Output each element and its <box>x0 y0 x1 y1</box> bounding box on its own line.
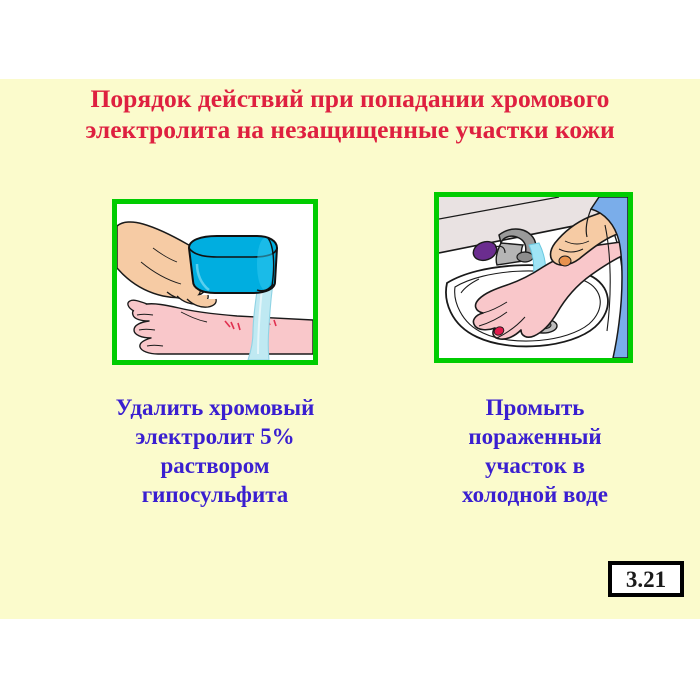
caption-left-line-3: раствором <box>45 451 385 480</box>
illustration-pouring-solution-on-forearm <box>117 204 313 360</box>
page-number: 3.21 <box>626 568 666 591</box>
caption-right-line-1: Промыть <box>395 393 675 422</box>
slide-root: Порядок действий при попадании хромового… <box>0 0 700 700</box>
caption-right-line-2: пораженный <box>395 422 675 451</box>
caption-left-line-4: гипосульфита <box>45 480 385 509</box>
page-title-line-1: Порядок действий при попадании хромового <box>0 83 700 114</box>
caption-left: Удалить хромовый электролит 5% раствором… <box>45 393 385 509</box>
caption-left-line-1: Удалить хромовый <box>45 393 385 422</box>
page-title: Порядок действий при попадании хромового… <box>0 83 700 145</box>
page-title-line-2: электролита на незащищенные участки кожи <box>0 114 700 145</box>
caption-right: Промыть пораженный участок в холодной во… <box>395 393 675 509</box>
caption-right-line-4: холодной воде <box>395 480 675 509</box>
caption-left-line-2: электролит 5% <box>45 422 385 451</box>
illustration-washing-hands-under-tap <box>439 197 628 358</box>
page-number-box: 3.21 <box>608 561 684 597</box>
caption-right-line-3: участок в <box>395 451 675 480</box>
illustration-frame-left <box>112 199 318 365</box>
cup-shape <box>189 236 277 293</box>
illustration-frame-right <box>434 192 633 363</box>
